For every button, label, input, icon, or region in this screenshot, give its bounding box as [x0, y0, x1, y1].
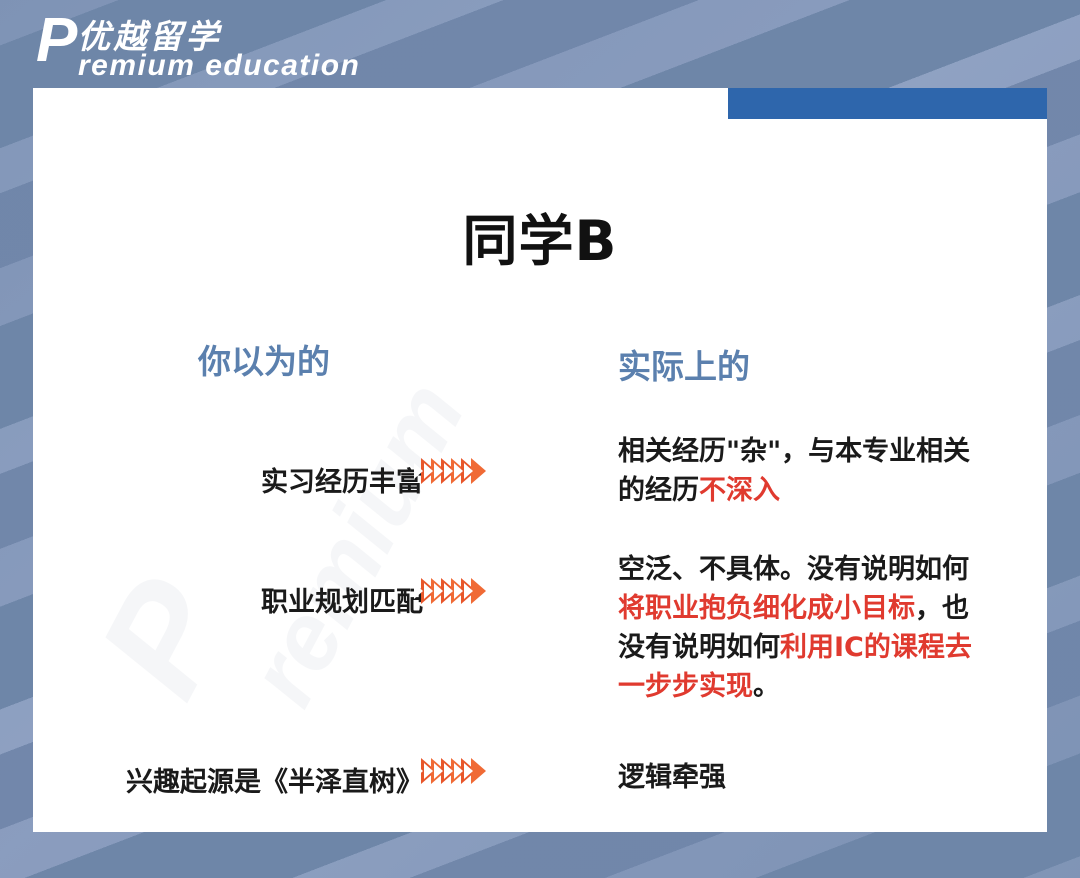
- row-right-text: 相关经历"杂"，与本专业相关的经历不深入: [618, 432, 986, 510]
- brand-logo-p-mark: P: [36, 14, 75, 69]
- chevron-right-icon: [471, 458, 486, 484]
- chevron-right-icon: [471, 578, 486, 604]
- row-left-label: 职业规划匹配: [33, 580, 423, 619]
- highlighted-text: 不深入: [699, 475, 780, 506]
- column-header-reality: 实际上的: [618, 340, 750, 388]
- row-arrow: [421, 458, 481, 484]
- card-inner: 同学B 你以为的 实际上的 实习经历丰富 相关经历"杂"，与本专业相关的经历: [33, 88, 1047, 832]
- plain-text: 。: [753, 671, 780, 702]
- page-title: 同学B: [33, 196, 1047, 276]
- chevron-right-arrow-icon: [421, 458, 481, 484]
- row-left-label: 兴趣起源是《半泽直树》: [33, 760, 423, 799]
- chevron-right-icon: [471, 758, 486, 784]
- plain-text: 逻辑牵强: [618, 762, 726, 793]
- brand-logo: P 优越留学 remium education: [36, 14, 360, 83]
- content-card: P remium 同学B 你以为的 实际上的 实习经历丰富: [33, 88, 1047, 832]
- row-left-label: 实习经历丰富: [33, 460, 423, 499]
- plain-text: 空泛、不具体。没有说明如何: [618, 554, 969, 585]
- row-right-text: 空泛、不具体。没有说明如何将职业抱负细化成小目标，也没有说明如何利用IC的课程去…: [618, 550, 986, 707]
- plain-text: 相关经历"杂"，与本专业相关的经历: [618, 436, 970, 506]
- row-right-text: 逻辑牵强: [618, 758, 986, 797]
- row-arrow: [421, 758, 481, 784]
- poster-canvas: P 优越留学 remium education P remium 同学B 你以为…: [0, 0, 1080, 878]
- brand-name-english: remium education: [78, 49, 360, 83]
- highlighted-text: 将职业抱负细化成小目标: [618, 593, 915, 624]
- chevron-right-arrow-icon: [421, 578, 481, 604]
- chevron-right-arrow-icon: [421, 758, 481, 784]
- column-header-expectation: 你以为的: [198, 335, 330, 383]
- row-arrow: [421, 578, 481, 604]
